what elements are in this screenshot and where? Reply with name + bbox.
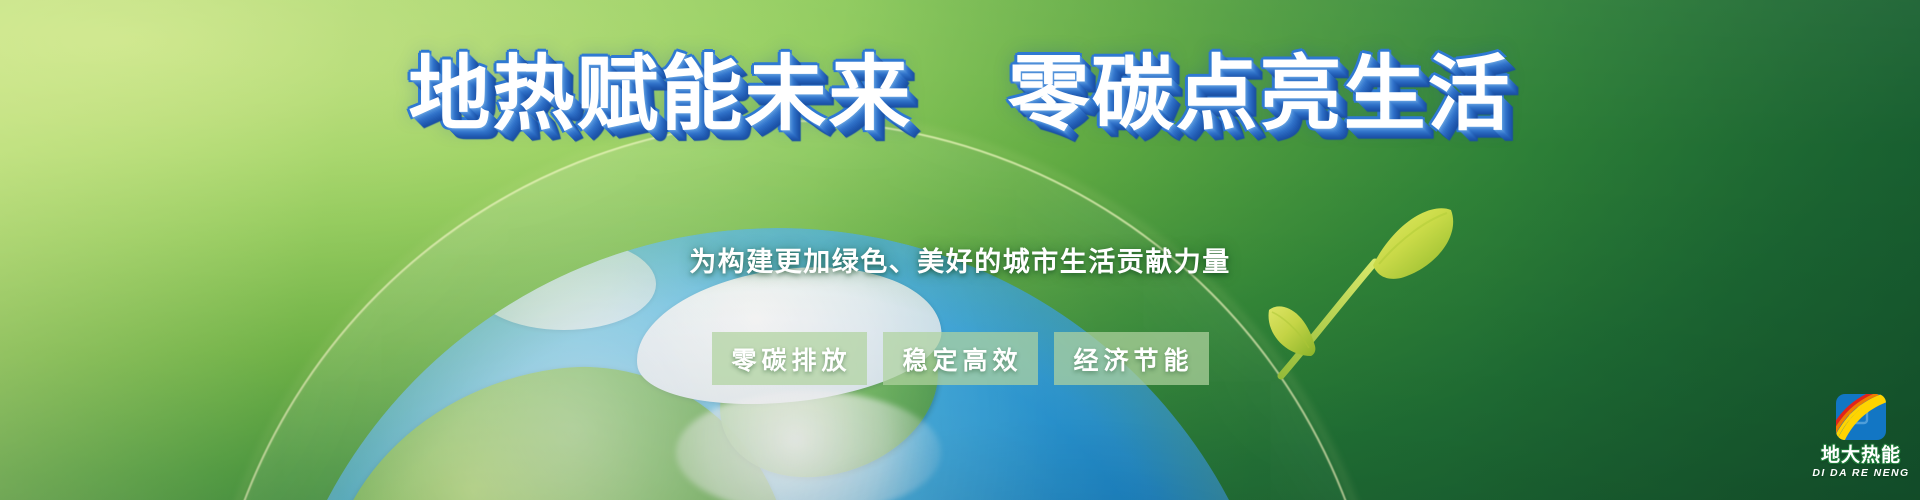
feature-tag-zero-carbon[interactable]: 零碳排放 [712,332,867,385]
banner-subtitle: 为构建更加绿色、美好的城市生活贡献力量 [0,240,1920,279]
logo-mark-icon [1833,392,1889,444]
logo-name-cn: 地大热能 [1821,446,1901,465]
headline-line-1: 地热赋能未来 [408,47,912,142]
feature-tag-stable-efficient[interactable]: 稳定高效 [883,332,1038,385]
headline-line-2: 零碳点亮生活 [1008,47,1512,142]
promo-banner: 地热赋能未来 零碳点亮生活 为构建更加绿色、美好的城市生活贡献力量 零碳排放 稳… [0,0,1920,500]
logo-name-en: DI DA RE NENG [1812,468,1909,479]
banner-headline: 地热赋能未来 零碳点亮生活 [0,52,1920,138]
company-logo[interactable]: 地大热能 DI DA RE NENG [1806,392,1916,496]
feature-tag-list: 零碳排放 稳定高效 经济节能 [0,332,1920,385]
feature-tag-economical-energy-saving[interactable]: 经济节能 [1054,332,1209,385]
